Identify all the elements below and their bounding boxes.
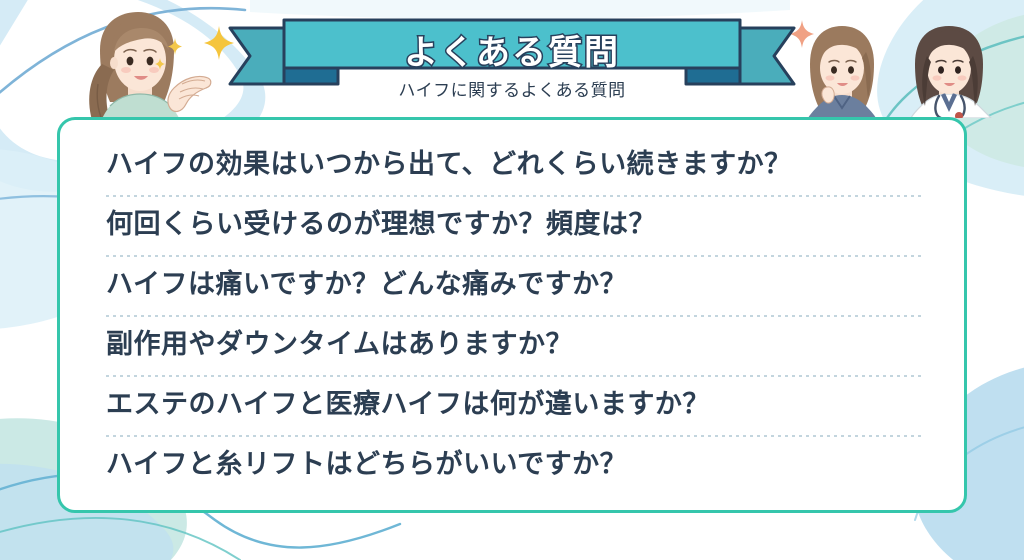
faq-question-text: エステのハイフと医療ハイフは何が違いますか？: [106, 390, 710, 420]
eye-right: [955, 66, 961, 74]
blush-left: [933, 75, 942, 80]
eye-right: [147, 57, 154, 66]
blush-right: [851, 75, 860, 80]
faq-item-1[interactable]: ハイフの効果はいつから出て、どれくらい続きますか？: [60, 135, 964, 195]
faq-item-2[interactable]: 何回くらい受けるのが理想ですか？頻度は？: [60, 195, 964, 255]
presenting-hand: [168, 76, 211, 111]
faq-banner-page: よくある質問 ハイフに関するよくある質問 ハイフの効果はいつから出て、どれくらい…: [0, 0, 1024, 560]
eye-left: [938, 66, 944, 74]
faq-item-3[interactable]: ハイフは痛いですか？どんな痛みですか？: [60, 255, 964, 315]
faq-question-text: ハイフの効果はいつから出て、どれくらい続きますか？: [106, 150, 792, 180]
illustration-woman-presenter-left: [66, 6, 216, 124]
faq-question-text: 副作用やダウンタイムはありますか？: [106, 330, 573, 360]
eye-left: [831, 66, 837, 74]
faq-item-4[interactable]: 副作用やダウンタイムはありますか？: [60, 315, 964, 375]
eye-left: [127, 57, 134, 66]
faq-item-6[interactable]: ハイフと糸リフトはどちらがいいですか？: [60, 435, 964, 495]
ribbon-subtitle: ハイフに関するよくある質問: [228, 76, 796, 101]
blush-left: [826, 75, 835, 80]
eye-right: [848, 66, 854, 74]
blush-right: [958, 75, 967, 80]
blob-top-center: [250, 0, 790, 19]
blush-left: [121, 67, 131, 73]
wave-line-bottom-left-2: [0, 518, 240, 560]
faq-item-5[interactable]: エステのハイフと医療ハイフは何が違いますか？: [60, 375, 964, 435]
faq-question-text: ハイフと糸リフトはどちらがいいですか？: [106, 450, 627, 480]
illustration-doctor-right: [895, 22, 1007, 118]
ear: [110, 57, 118, 69]
sparkle-gold-tiny-icon: [155, 58, 165, 70]
faq-question-text: 何回くらい受けるのが理想ですか？頻度は？: [106, 210, 656, 240]
ribbon-main-band: [284, 20, 740, 68]
faq-card: ハイフの効果はいつから出て、どれくらい続きますか？ 何回くらい受けるのが理想です…: [57, 117, 967, 513]
faq-question-text: ハイフは痛いですか？どんな痛みですか？: [106, 270, 627, 300]
sparkle-gold-small-icon: [168, 38, 182, 55]
